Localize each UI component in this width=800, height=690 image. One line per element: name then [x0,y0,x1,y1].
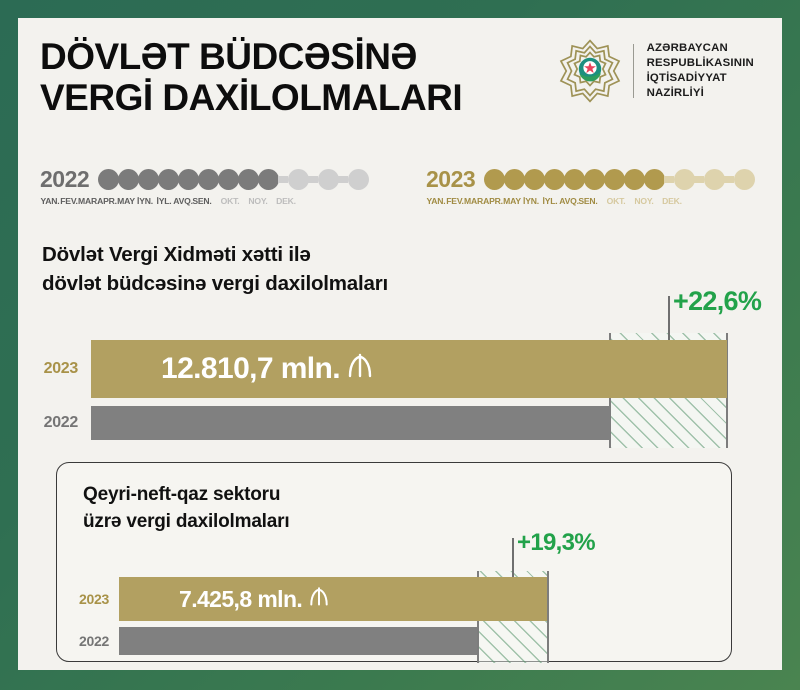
bar-row-2023-chart1: 2023 12.810,7 mln. [18,340,727,398]
timeline-2023-label-fev: FEV. [445,196,465,206]
ministry-name-line-3: İQTİSADİYYAT [647,71,754,86]
chart-nonoil-sector-revenue: +19,3% 2023 7.425,8 mln. [57,563,733,663]
section-1-heading: Dövlət Vergi Xidməti xətti ilə dövlət bü… [42,240,388,298]
timeline-2023-connector [664,176,674,183]
timeline-2022-label-fev: FEV. [59,196,79,206]
timeline-2022-dot-may[interactable] [178,169,199,190]
timeline-2023-dot-apr[interactable] [544,169,565,190]
ministry-name: AZƏRBAYCAN RESPUBLİKASININ İQTİSADİYYAT … [647,41,754,101]
timeline-2022-dot-sen[interactable] [258,169,279,190]
timeline-2022-label-okt: OKT. [220,196,240,206]
timeline-2022-dot-okt[interactable] [288,169,309,190]
poster-header: DÖVLƏT BÜDCƏSİNƏ VERGİ DAXİLOLMALARI [18,18,782,136]
bar-value-text-2023-chart1: 12.810,7 mln. [161,352,340,386]
bar-2023-chart1: 12.810,7 mln. [91,340,727,398]
bar-label-2023-chart2: 2023 [57,591,109,607]
bar-2023-chart2: 7.425,8 mln. [119,577,547,621]
timeline-2023-connector [694,176,704,183]
timeline-2023-label-avq: AVQ. [559,196,579,206]
bar-value-text-2023-chart2: 7.425,8 mln. [179,586,302,613]
timeline-2023-label-okt: OKT. [606,196,626,206]
section-2-heading-line-1: Qeyri-neft-qaz sektoru [83,482,289,509]
timeline-2022-connector [338,176,348,183]
timeline-2022-label-sen: SEN. [192,196,212,206]
timeline-2023-year: 2023 [426,166,475,193]
timeline-2022-dot-yan[interactable] [98,169,119,190]
section-2-heading: Qeyri-neft-qaz sektoru üzrə vergi daxilo… [83,482,289,536]
timeline-2022-label-may: MAY [116,196,136,206]
timeline-2023-dot-fev[interactable] [504,169,525,190]
timeline-2022-dot-i̇yl[interactable] [218,169,239,190]
timeline-2022-dots [98,169,368,191]
ministry-name-line-1: AZƏRBAYCAN [647,41,754,56]
timeline-2023-dot-i̇yl[interactable] [604,169,625,190]
infographic-poster: DÖVLƏT BÜDCƏSİNƏ VERGİ DAXİLOLMALARI [0,0,800,690]
growth-zone-2-right-edge [547,571,549,663]
ministry-logo: AZƏRBAYCAN RESPUBLİKASININ İQTİSADİYYAT … [557,38,754,104]
timeline-2022-label-yan: YAN. [40,196,60,206]
timeline-2023-label-yan: YAN. [426,196,446,206]
timeline-2022-label-dek: DEK. [276,196,296,206]
bar-row-2023-chart2: 2023 7.425,8 mln. [57,577,547,621]
bar-2022-chart1 [91,406,610,440]
timeline-2023-dot-mar[interactable] [524,169,545,190]
bar-label-2022-chart1: 2022 [18,414,78,432]
timeline-2023-dot-sen[interactable] [644,169,665,190]
page-title-line-2: VERGİ DAXİLOLMALARI [40,77,510,118]
bar-value-2023-chart1: 12.810,7 mln. [161,351,373,387]
page-title-line-1: DÖVLƏT BÜDCƏSİNƏ [40,36,510,77]
section-2-heading-line-2: üzrə vergi daxilolmaları [83,509,289,536]
timeline-2022-dot-fev[interactable] [118,169,139,190]
timeline-2023-label-apr: APR. [483,196,503,206]
timeline-2022-dot-avq[interactable] [238,169,259,190]
manat-currency-icon-chart1 [347,351,373,387]
growth-2-percent-label: +19,3% [517,529,595,557]
timeline-2023-dot-may[interactable] [564,169,585,190]
timeline-2023-label-dek: DEK. [662,196,682,206]
timeline-2023-label-noy: NOY. [634,196,654,206]
timeline-2022-year: 2022 [40,166,89,193]
timeline-2023-connector [724,176,734,183]
timeline-2022-label-apr: APR. [97,196,117,206]
ministry-name-line-2: RESPUBLİKASININ [647,56,754,71]
ministry-emblem-icon [557,38,623,104]
timeline-2022-label-mar: MAR. [78,196,98,206]
bar-value-2023-chart2: 7.425,8 mln. [179,585,329,613]
timeline-2023-label-i̇yl: İYL. [540,196,560,206]
timeline-2022-label-noy: NOY. [248,196,268,206]
timeline-2022-connector [278,176,288,183]
timeline-2023-dot-noy[interactable] [704,169,725,190]
poster-canvas: DÖVLƏT BÜDCƏSİNƏ VERGİ DAXİLOLMALARI [18,18,782,670]
timeline-2023-labels: YAN.FEV.MAR.APR.MAYİYN.İYL.AVQ.SEN.OKT.N… [426,196,754,206]
timeline-2022-dot-mar[interactable] [138,169,159,190]
timeline-2023-label-mar: MAR. [464,196,484,206]
chart-state-budget-revenue: +22,6% 2023 12.810,7 mln. [18,318,778,448]
timeline-2022-label-i̇yl: İYL. [154,196,174,206]
ministry-name-line-4: NAZİRLİYİ [647,86,754,101]
timeline-2022-labels: YAN.FEV.MAR.APR.MAYİYN.İYL.AVQ.SEN.OKT.N… [40,196,368,206]
timeline-2023-label-i̇yn: İYN. [521,196,541,206]
timeline-2023-dot-yan[interactable] [484,169,505,190]
timeline-2023-dot-dek[interactable] [734,169,755,190]
timeline-2023: 2023 YAN.FEV.MAR.APR.MAYİYN.İYL.AVQ.SEN.… [426,166,754,206]
logo-divider [633,44,634,98]
timeline-2023-dot-i̇yn[interactable] [584,169,605,190]
bar-row-2022-chart2: 2022 [57,627,477,655]
page-title: DÖVLƏT BÜDCƏSİNƏ VERGİ DAXİLOLMALARI [40,36,510,118]
bar-label-2022-chart2: 2022 [57,633,109,649]
timeline-2022-connector [308,176,318,183]
timeline-2022-label-i̇yn: İYN. [135,196,155,206]
timeline-2022-dot-noy[interactable] [318,169,339,190]
timeline-2023-dots [484,169,754,191]
section-1-heading-line-1: Dövlət Vergi Xidməti xətti ilə [42,240,388,269]
manat-currency-icon-chart2 [309,585,329,613]
timeline-2022-dot-i̇yn[interactable] [198,169,219,190]
timeline-2022: 2022 YAN.FEV.MAR.APR.MAYİYN.İYL.AVQ.SEN.… [40,166,368,206]
bar-label-2023-chart1: 2023 [18,360,78,378]
timeline-2023-dot-avq[interactable] [624,169,645,190]
timeline-2023-label-sen: SEN. [578,196,598,206]
section-2-card: Qeyri-neft-qaz sektoru üzrə vergi daxilo… [56,462,732,662]
timeline-2023-label-may: MAY [502,196,522,206]
timeline-2022-dot-dek[interactable] [348,169,369,190]
bar-2022-chart2 [119,627,477,655]
timeline-2022-label-avq: AVQ. [173,196,193,206]
growth-1-percent-label: +22,6% [673,286,761,317]
timeline-2022-dot-apr[interactable] [158,169,179,190]
bar-row-2022-chart1: 2022 [18,406,610,440]
section-1-heading-line-2: dövlət büdcəsinə vergi daxilolmaları [42,269,388,298]
timeline-2023-dot-okt[interactable] [674,169,695,190]
